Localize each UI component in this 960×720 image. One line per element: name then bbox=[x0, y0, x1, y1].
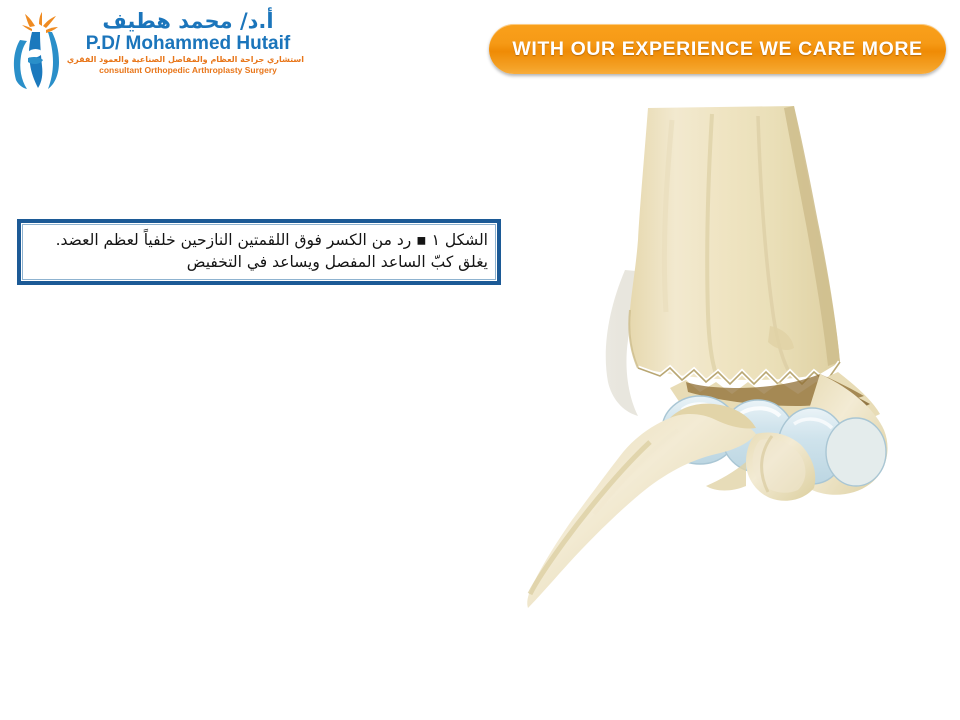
figure-caption-text: الشكل ١ ▪ رد من الكسر فوق اللقمتين الناز… bbox=[30, 229, 488, 273]
logo-arabic-name: أ.د/ محمد هطيف bbox=[72, 10, 304, 34]
footer-contact-strip: Emergency +967-774022110 (+ 967774203774… bbox=[0, 600, 960, 720]
supracondylar-humerus-fracture-elbow-illustration bbox=[520, 100, 940, 660]
logo-english-subtitle: consultant Orthopedic Arthroplasty Surge… bbox=[72, 65, 304, 75]
brand-logo[interactable]: أ.د/ محمد هطيف P.D/ Mohammed Hutaif استش… bbox=[6, 8, 306, 94]
slide-canvas: أ.د/ محمد هطيف P.D/ Mohammed Hutaif استش… bbox=[0, 0, 960, 720]
slogan-banner: WITH OUR EXPERIENCE WE CARE MORE bbox=[489, 24, 946, 74]
figure-caption-box: الشكل ١ ▪ رد من الكسر فوق اللقمتين الناز… bbox=[17, 219, 501, 285]
brand-logo-text: أ.د/ محمد هطيف P.D/ Mohammed Hutaif استش… bbox=[72, 10, 304, 92]
slogan-text: WITH OUR EXPERIENCE WE CARE MORE bbox=[512, 38, 922, 61]
logo-arabic-subtitle: استشاري جراحة العظام والمفاصل الصناعية و… bbox=[72, 55, 304, 65]
knee-joint-flame-icon bbox=[8, 12, 70, 90]
logo-english-name: P.D/ Mohammed Hutaif bbox=[72, 33, 304, 55]
